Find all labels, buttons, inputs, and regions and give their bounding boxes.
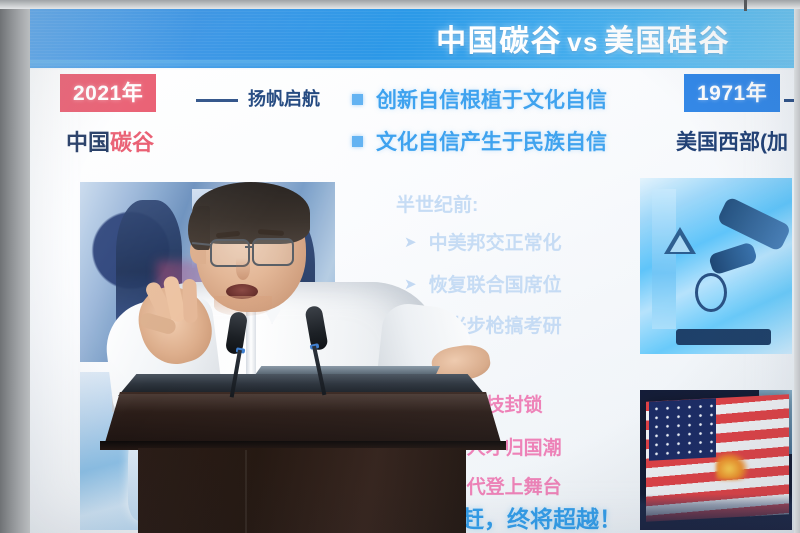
us-flag-photo — [640, 390, 792, 530]
slide-title-left: 中国碳谷 — [436, 25, 562, 58]
laboratory-equipment-photo — [640, 178, 792, 354]
banner-glow — [28, 60, 796, 70]
speaker-nose — [236, 258, 250, 280]
square-bullet-icon — [352, 136, 363, 147]
slide-title-right: 美国硅谷 — [604, 25, 730, 58]
subtitle-left-dark: 中国 — [66, 130, 110, 155]
history-heading: 半世纪前: — [396, 190, 478, 217]
podium-highlight — [110, 394, 496, 412]
history-item-1: ➤ 中美邦交正常化 — [404, 228, 562, 255]
wall-right-edge — [794, 0, 800, 533]
ceiling-seam — [744, 0, 747, 11]
podium-base — [138, 448, 466, 533]
year-badge-left: 2021年 — [60, 74, 156, 112]
warning-triangle-icon — [664, 227, 696, 254]
arrow-bullet-icon: ➤ — [404, 233, 417, 251]
subtitle-left: 中国碳谷 — [66, 125, 154, 157]
tagline-left: 扬帆启航 — [248, 85, 320, 111]
eyeglasses-lens-right — [252, 238, 294, 266]
year-badge-right: 1971年 — [684, 74, 780, 112]
top-bullet-2: 文化自信产生于民族自信 — [352, 126, 607, 156]
eyeglasses-bridge — [245, 246, 254, 248]
hand-finger — [182, 279, 198, 323]
history-item-2-label: 恢复联合国席位 — [429, 270, 562, 297]
history-item-1-label: 中美邦交正常化 — [429, 228, 562, 255]
history-item-2: ➤ 恢复联合国席位 — [404, 270, 562, 297]
wall-left-edge — [0, 0, 30, 533]
subtitle-left-red: 碳谷 — [110, 130, 154, 155]
subtitle-right: 美国西部(加 — [676, 126, 788, 156]
ceiling-strip — [0, 0, 800, 9]
slide-title-vs: vs — [567, 27, 599, 57]
screenshot-stage: 中国碳谷vs美国硅谷 2021年 扬帆启航 中国碳谷 1971年 美国西部(加 … — [0, 0, 800, 533]
slide-title: 中国碳谷vs美国硅谷 — [436, 16, 730, 60]
top-bullet-2-label: 文化自信产生于民族自信 — [376, 126, 607, 156]
slide-title-banner: 中国碳谷vs美国硅谷 — [28, 8, 796, 68]
top-bullet-1-label: 创新自信根植于文化自信 — [376, 84, 607, 114]
podium-seam — [245, 450, 247, 533]
square-bullet-icon — [352, 94, 363, 105]
dash-rule-left — [196, 99, 238, 102]
top-bullet-1: 创新自信根植于文化自信 — [352, 84, 607, 114]
